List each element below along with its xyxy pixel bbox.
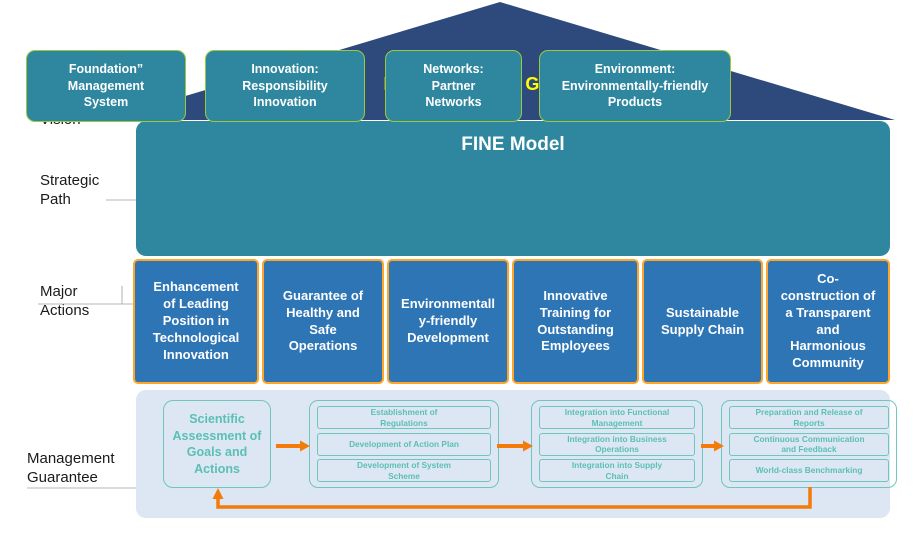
fine-model-diagram: Strategic Vision Strategic Path Major Ac… <box>0 0 920 538</box>
row-label-management-guarantee: Management Guarantee <box>27 450 147 488</box>
major-action-box-innovative-training[interactable]: Innovative Training for Outstanding Empl… <box>512 259 639 384</box>
mg-item[interactable]: Integration into Business Operations <box>539 433 695 456</box>
mg-group-integration: Integration into Functional Management I… <box>531 400 703 488</box>
mg-item[interactable]: Continuous Communication and Feedback <box>729 433 889 456</box>
mg-item[interactable]: Development of Action Plan <box>317 433 491 456</box>
flow-arrow-icon <box>276 440 310 452</box>
management-guarantee-panel: Scientific Assessment of Goals and Actio… <box>136 390 890 518</box>
major-action-box-sustainable-supply-chain[interactable]: Sustainable Supply Chain <box>642 259 763 384</box>
flow-arrow-icon <box>701 440 724 452</box>
strategic-path-band: FINE Model <box>136 121 890 256</box>
mg-scientific-assessment-box[interactable]: Scientific Assessment of Goals and Actio… <box>163 400 271 488</box>
flow-arrow-icon <box>497 440 533 452</box>
major-action-box-healthy-safe-operations[interactable]: Guarantee of Healthy and Safe Operations <box>262 259 384 384</box>
major-action-box-environmentally-friendly-development[interactable]: Environmentall y-friendly Development <box>387 259 509 384</box>
major-action-box-transparent-harmonious-community[interactable]: Co- construction of a Transparent and Ha… <box>766 259 890 384</box>
feedback-loop-arrow-icon <box>156 485 836 517</box>
mg-item[interactable]: Development of System Scheme <box>317 459 491 482</box>
major-action-box-technological-innovation[interactable]: Enhancement of Leading Position in Techn… <box>133 259 259 384</box>
strategic-path-box-environment[interactable]: Environment: Environmentally-friendly Pr… <box>539 50 731 122</box>
mg-item[interactable]: Integration into Supply Chain <box>539 459 695 482</box>
strategic-path-box-innovation[interactable]: Innovation: Responsibility Innovation <box>205 50 365 122</box>
strategic-path-box-foundation[interactable]: Foundation” Management System <box>26 50 186 122</box>
mg-group-planning: Establishment of Regulations Development… <box>309 400 499 488</box>
mg-item[interactable]: Integration into Functional Management <box>539 406 695 429</box>
row-label-major-actions: Major Actions <box>40 283 135 321</box>
mg-item[interactable]: World-class Benchmarking <box>729 459 889 482</box>
mg-group-reporting: Preparation and Release of Reports Conti… <box>721 400 897 488</box>
strategic-path-box-networks[interactable]: Networks: Partner Networks <box>385 50 522 122</box>
mg-item[interactable]: Establishment of Regulations <box>317 406 491 429</box>
row-label-strategic-path: Strategic Path <box>40 172 135 210</box>
fine-model-title: FINE Model <box>136 134 890 156</box>
mg-item[interactable]: Preparation and Release of Reports <box>729 406 889 429</box>
